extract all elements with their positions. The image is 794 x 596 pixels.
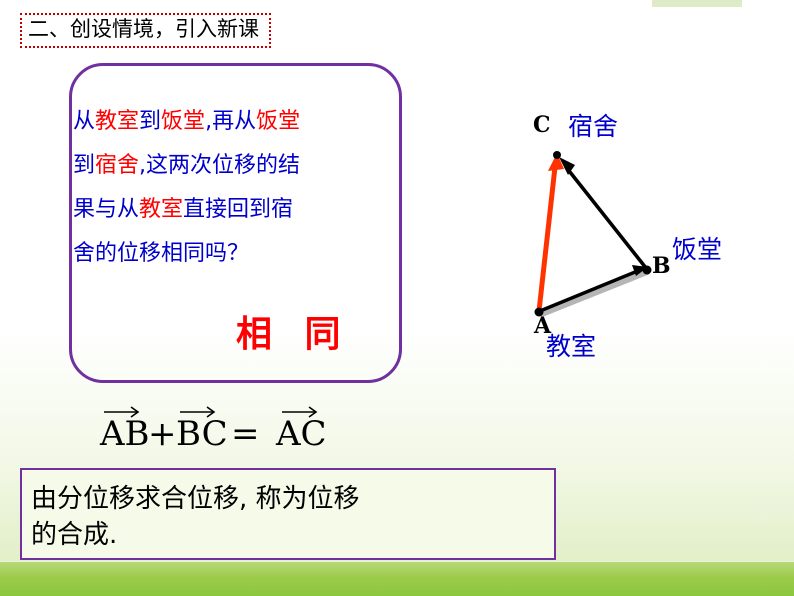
point-label-c: C [533, 112, 551, 138]
answer-text: 相 同 [236, 305, 351, 357]
q1-c: 到 [139, 109, 161, 134]
section-title-box: 二、创设情境，引入新课 [20, 13, 271, 48]
label-classroom: 教室 [546, 327, 596, 363]
vector-ac [539, 153, 564, 311]
q2-d: 这两次位移的结 [146, 153, 300, 178]
q1-f: 再从 [212, 109, 256, 134]
vector-formula: AB + BC = AC [100, 404, 410, 459]
slide-canvas: 二、创设情境，引入新课 从教室到饭堂,再从饭堂 到宿舍,这两次位移的结 果与从教… [0, 0, 794, 596]
q1-g: 饭堂 [256, 109, 300, 134]
formula-term-ab: AB [100, 417, 150, 451]
q3-c: 直接回到宿 [183, 197, 293, 222]
q1-b: 教室 [95, 109, 139, 134]
q2-c: , [139, 153, 146, 178]
question-line-3: 果与从教室直接回到宿 [73, 188, 403, 232]
question-line-2: 到宿舍,这两次位移的结 [73, 144, 403, 188]
formula-term-bc: BC [176, 417, 228, 451]
bottom-green-band [0, 562, 794, 596]
vector-triangle-diagram: A B C 宿舍 饭堂 教室 [480, 95, 780, 375]
formula-plus: + [148, 417, 177, 451]
statement-line-2: 的合成. [31, 517, 551, 553]
q1-d: 饭堂 [161, 109, 205, 134]
statement-line-1: 由分位移求合位移, 称为位移 [31, 481, 551, 517]
formula-equals: = [231, 417, 260, 451]
top-right-decoration [652, 0, 742, 7]
q4-a: 舍的位移相同吗？ [73, 241, 249, 266]
vector-ab [540, 265, 648, 314]
q2-a: 到 [73, 153, 95, 178]
label-canteen: 饭堂 [672, 230, 722, 266]
q1-e: , [205, 109, 212, 134]
point-c-dot [553, 151, 561, 159]
vector-bc [559, 157, 646, 268]
question-line-1: 从教室到饭堂,再从饭堂 [73, 100, 403, 144]
point-b-dot [643, 266, 652, 275]
question-text: 从教室到饭堂,再从饭堂 到宿舍,这两次位移的结 果与从教室直接回到宿 舍的位移相… [73, 100, 403, 276]
q2-b: 宿舍 [95, 153, 139, 178]
q3-a: 果与从 [73, 197, 139, 222]
question-line-4: 舍的位移相同吗？ [73, 232, 403, 276]
q3-b: 教室 [139, 197, 183, 222]
q1-a: 从 [73, 109, 95, 134]
statement-text: 由分位移求合位移, 称为位移 的合成. [31, 481, 551, 553]
point-label-b: B [652, 253, 671, 279]
triangle-svg [480, 95, 780, 375]
label-dorm: 宿舍 [568, 107, 618, 143]
formula-term-ac: AC [276, 417, 327, 451]
page-title: 二、创设情境，引入新课 [28, 18, 259, 41]
